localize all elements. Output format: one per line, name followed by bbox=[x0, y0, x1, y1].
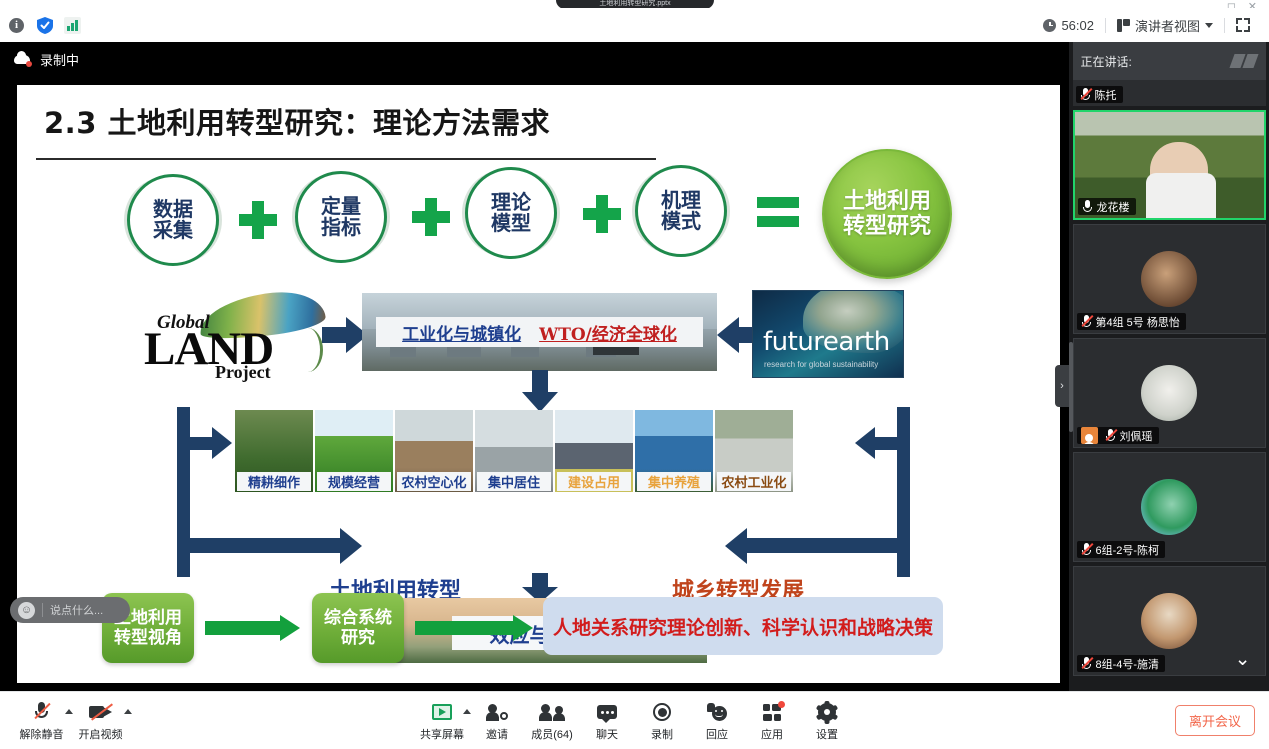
plus-icon-1 bbox=[239, 201, 277, 239]
speaking-label: 正在讲话: bbox=[1081, 53, 1132, 70]
term4-line1: 机理 bbox=[661, 190, 701, 211]
presentation-slide: 2.3 土地利用转型研究：理论方法需求 数据 采集 定量 指标 理论 模型 bbox=[17, 85, 1060, 683]
driver-banner-image: 工业化与城镇化 WTO/经济全球化 bbox=[362, 293, 717, 371]
term4-line2: 模式 bbox=[661, 211, 701, 232]
photo-item: 精耕细作 bbox=[235, 410, 313, 492]
meeting-toolbar: 解除静音 开启视频 共享屏幕 邀请 bbox=[0, 691, 1269, 749]
notification-badge bbox=[778, 701, 785, 708]
reaction-icon bbox=[707, 701, 727, 723]
chevron-up-icon[interactable] bbox=[124, 709, 132, 714]
participant-name-chip: 第4组 5号 杨思怡 bbox=[1077, 313, 1186, 330]
settings-button[interactable]: 设置 bbox=[800, 697, 855, 742]
microphone-muted-icon bbox=[1105, 429, 1116, 442]
participant-name: 6组-2号-陈柯 bbox=[1096, 542, 1160, 558]
participant-name: 刘佩瑶 bbox=[1120, 428, 1153, 444]
plus-icon-3 bbox=[583, 195, 621, 233]
avatar bbox=[1141, 593, 1197, 649]
slide-title: 2.3 土地利用转型研究：理论方法需求 bbox=[44, 100, 550, 142]
leave-meeting-button[interactable]: 离开会议 bbox=[1175, 705, 1255, 736]
equation-term-1: 数据 采集 bbox=[127, 174, 219, 266]
plus-icon-2 bbox=[412, 198, 450, 236]
term2-line2: 指标 bbox=[321, 217, 361, 238]
members-label: 成员(64) bbox=[531, 726, 573, 742]
conclusion-box: 人地关系研究理论创新、科学认识和战略决策 bbox=[543, 597, 943, 655]
view-mode-label: 演讲者视图 bbox=[1135, 16, 1200, 35]
left-feedback-bracket bbox=[177, 407, 237, 577]
arrow-green-1 bbox=[205, 615, 300, 641]
chat-icon bbox=[597, 701, 617, 723]
flow-box-system-research: 综合系统 研究 bbox=[312, 593, 404, 663]
mute-button[interactable]: 解除静音 bbox=[14, 697, 69, 742]
record-button[interactable]: 录制 bbox=[635, 697, 690, 742]
participant-tile-1[interactable]: 龙花楼 bbox=[1073, 110, 1266, 220]
share-screen-button[interactable]: 共享屏幕 bbox=[415, 697, 470, 742]
reaction-label: 回应 bbox=[706, 726, 728, 742]
term1-line2: 采集 bbox=[153, 220, 193, 241]
equation-term-4: 机理 模式 bbox=[635, 165, 727, 257]
audio-wave-icon bbox=[1232, 54, 1256, 68]
window-titlebar: 土地利用转型研究.pptx ◻ ✕ bbox=[0, 0, 1269, 8]
photo-label: 精耕细作 bbox=[237, 472, 311, 491]
panel-scrollbar[interactable] bbox=[1069, 342, 1073, 432]
equation-term-2: 定量 指标 bbox=[295, 171, 387, 263]
record-label: 录制 bbox=[651, 726, 673, 742]
speaker-shirt bbox=[1146, 173, 1216, 218]
global-land-project-logo: Global LAND Project bbox=[147, 298, 322, 378]
equation-term-3: 理论 模型 bbox=[465, 167, 557, 259]
chat-label: 聊天 bbox=[596, 726, 618, 742]
photo-item: 集中居住 bbox=[475, 410, 553, 492]
logo-futureearth-text: futurearth bbox=[763, 327, 890, 357]
photo-item: 集中养殖 bbox=[635, 410, 713, 492]
driver-text-1: 工业化与城镇化 bbox=[402, 320, 521, 345]
shared-screen-stage: 2.3 土地利用转型研究：理论方法需求 数据 采集 定量 指标 理论 模型 bbox=[0, 77, 1069, 691]
equals-icon bbox=[757, 197, 799, 227]
settings-gear-icon bbox=[818, 701, 836, 723]
recording-label: 录制中 bbox=[40, 50, 79, 69]
clock-icon bbox=[1043, 19, 1056, 32]
fullscreen-button[interactable] bbox=[1225, 18, 1261, 32]
participant-panel: 正在讲话: 陈托 龙花楼 第4组 5号 杨思怡 bbox=[1069, 42, 1269, 691]
camera-off-icon bbox=[89, 701, 113, 723]
quick-chat-placeholder: 说点什么... bbox=[50, 602, 103, 618]
share-screen-label: 共享屏幕 bbox=[420, 726, 464, 742]
video-button-label: 开启视频 bbox=[79, 726, 123, 742]
emoji-icon[interactable]: ☺ bbox=[18, 602, 35, 619]
flow-box2-line1: 综合系统 bbox=[324, 608, 392, 628]
host-badge-icon bbox=[1081, 427, 1098, 444]
avatar bbox=[1141, 251, 1197, 307]
photo-label: 规模经营 bbox=[317, 472, 391, 491]
photo-item: 规模经营 bbox=[315, 410, 393, 492]
result-line2: 转型研究 bbox=[843, 214, 931, 239]
arrow-down-to-strip bbox=[522, 370, 558, 410]
apps-label: 应用 bbox=[761, 726, 783, 742]
participant-name-chip: 陈托 bbox=[1076, 86, 1123, 103]
apps-button[interactable]: 应用 bbox=[745, 697, 800, 742]
microphone-muted-icon bbox=[1080, 88, 1091, 101]
logo-tail bbox=[293, 328, 323, 372]
cloud-recording-icon bbox=[14, 53, 32, 66]
toolbar-center-group: 共享屏幕 邀请 成员(64) 聊天 录制 回应 bbox=[415, 697, 855, 742]
microphone-muted-icon bbox=[1081, 315, 1092, 328]
participant-name: 第4组 5号 杨思怡 bbox=[1096, 314, 1180, 330]
term2-line1: 定量 bbox=[321, 196, 361, 217]
reaction-button[interactable]: 回应 bbox=[690, 697, 745, 742]
equation-result: 土地利用 转型研究 bbox=[822, 149, 952, 279]
members-icon bbox=[540, 701, 564, 723]
microphone-muted-icon bbox=[1081, 657, 1092, 670]
invite-icon bbox=[486, 701, 508, 723]
chevron-up-icon[interactable] bbox=[65, 709, 73, 714]
chevron-right-icon: › bbox=[1060, 380, 1064, 392]
invite-label: 邀请 bbox=[486, 726, 508, 742]
participant-tile-4[interactable]: 6组-2号-陈柯 bbox=[1073, 452, 1266, 562]
shield-check-icon[interactable] bbox=[36, 17, 53, 34]
participant-tile-3[interactable]: 刘佩瑶 bbox=[1073, 338, 1266, 448]
photo-item: 农村空心化 bbox=[395, 410, 473, 492]
participant-name: 龙花楼 bbox=[1097, 199, 1130, 215]
meeting-timer: 56:02 bbox=[1032, 18, 1105, 33]
participant-name: 陈托 bbox=[1095, 87, 1117, 103]
photo-label: 农村空心化 bbox=[397, 472, 471, 491]
meeting-top-controls: 56:02 演讲者视图 bbox=[1032, 14, 1261, 36]
quick-chat-input[interactable]: ☺ 说点什么... bbox=[10, 597, 130, 623]
record-icon bbox=[653, 701, 671, 723]
meeting-window: 土地利用转型研究.pptx ◻ ✕ i 56:02 演讲者视图 bbox=[0, 0, 1269, 749]
timer-value: 56:02 bbox=[1061, 18, 1094, 33]
panel-collapse-toggle[interactable]: › bbox=[1055, 365, 1069, 407]
participant-tile-2[interactable]: 第4组 5号 杨思怡 bbox=[1073, 224, 1266, 334]
chevron-down-icon[interactable]: ⌄ bbox=[1235, 650, 1251, 669]
chat-button[interactable]: 聊天 bbox=[580, 697, 635, 742]
view-mode-selector[interactable]: 演讲者视图 bbox=[1106, 16, 1224, 35]
info-icon[interactable]: i bbox=[8, 17, 25, 34]
photo-label: 农村工业化 bbox=[717, 472, 791, 491]
avatar bbox=[1141, 479, 1197, 535]
participant-name-chip: 龙花楼 bbox=[1078, 198, 1136, 215]
avatar bbox=[1141, 365, 1197, 421]
result-line1: 土地利用 bbox=[843, 189, 931, 214]
participant-name-chip: 8组-4号-施清 bbox=[1077, 655, 1166, 672]
flow-box1-line2: 转型视角 bbox=[114, 628, 182, 648]
arrow-green-2 bbox=[415, 615, 533, 641]
video-button[interactable]: 开启视频 bbox=[73, 697, 128, 742]
term3-line2: 模型 bbox=[491, 213, 531, 234]
photo-label: 建设占用 bbox=[557, 472, 631, 491]
future-earth-logo: futurearth research for global sustainab… bbox=[752, 290, 904, 378]
participant-name: 8组-4号-施清 bbox=[1096, 656, 1160, 672]
microphone-muted-icon bbox=[1081, 543, 1092, 556]
equation-row: 数据 采集 定量 指标 理论 模型 机理 模式 bbox=[127, 157, 987, 282]
fullscreen-icon bbox=[1236, 18, 1250, 32]
signal-bars-icon[interactable] bbox=[64, 17, 81, 34]
mute-button-label: 解除静音 bbox=[20, 726, 64, 742]
flow-box2-line2: 研究 bbox=[341, 628, 375, 648]
participant-name-chip: 6组-2号-陈柯 bbox=[1077, 541, 1166, 558]
participant-tile-0[interactable]: 正在讲话: 陈托 bbox=[1073, 42, 1266, 106]
divider bbox=[42, 603, 43, 617]
microphone-muted-icon bbox=[33, 701, 50, 723]
invite-button[interactable]: 邀请 bbox=[470, 697, 525, 742]
presenter-view-icon bbox=[1117, 19, 1130, 32]
driver-banner-label: 工业化与城镇化 WTO/经济全球化 bbox=[376, 317, 703, 347]
term1-line1: 数据 bbox=[153, 199, 193, 220]
share-screen-icon bbox=[432, 701, 452, 723]
photo-label: 集中居住 bbox=[477, 472, 551, 491]
settings-label: 设置 bbox=[816, 726, 838, 742]
logo-tagline: research for global sustainability bbox=[764, 360, 878, 369]
photo-item: 农村工业化 bbox=[715, 410, 793, 492]
apps-icon bbox=[763, 701, 782, 723]
participant-tile-5[interactable]: 8组-4号-施清 ⌄ bbox=[1073, 566, 1266, 676]
speaking-indicator: 正在讲话: bbox=[1073, 42, 1266, 80]
photo-label: 集中养殖 bbox=[637, 472, 711, 491]
members-button[interactable]: 成员(64) bbox=[525, 697, 580, 742]
toolbar-left-group: 解除静音 开启视频 bbox=[14, 697, 128, 742]
logo-project-text: Project bbox=[215, 362, 271, 383]
driver-text-2: WTO/经济全球化 bbox=[539, 320, 677, 345]
microphone-icon bbox=[1082, 200, 1093, 213]
participant-name-chip: 刘佩瑶 bbox=[1077, 427, 1159, 444]
photo-item: 建设占用 bbox=[555, 410, 633, 492]
term3-line1: 理论 bbox=[491, 192, 531, 213]
chevron-down-icon bbox=[1205, 23, 1213, 28]
transition-photo-strip: 精耕细作 规模经营 农村空心化 集中居住 建设占用 集中养殖 农 bbox=[235, 410, 868, 492]
